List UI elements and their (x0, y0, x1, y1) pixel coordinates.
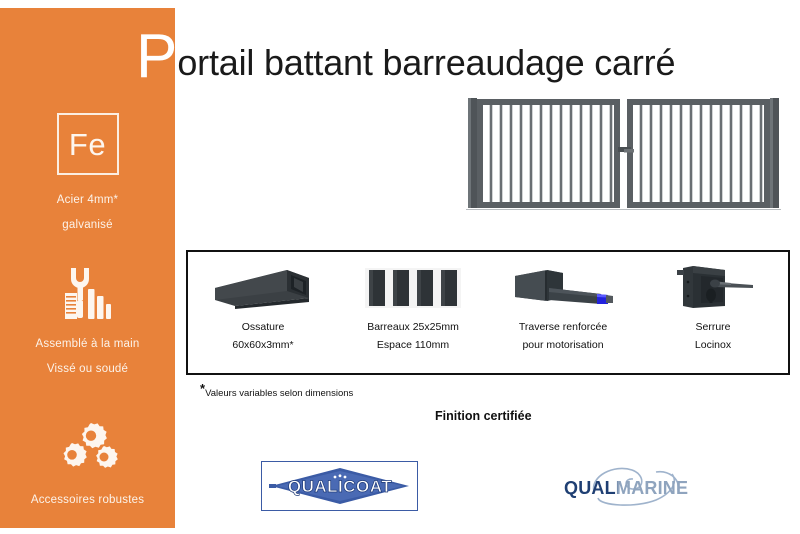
page-title: Portail battant barreaudage carré (136, 24, 675, 86)
sidebar-block-assembly: Assemblé à la main Vissé ou soudé (0, 266, 175, 382)
feature-ossature: Ossature 60x60x3mm* (188, 252, 338, 373)
sidebar-block-accessories: Accessoires robustes (0, 420, 175, 513)
feature-serrure-line1: Serrure (695, 318, 731, 336)
feature-traverse: Traverse renforcée pour motorisation (488, 252, 638, 373)
lock-icon (638, 258, 788, 318)
steel-profile-icon (188, 258, 338, 318)
sidebar-material-line1: Acier 4mm* (0, 188, 175, 213)
double-swing-gate-illustration (466, 90, 781, 222)
vertical-bars-icon (338, 258, 488, 318)
feature-ossature-line1: Ossature (232, 318, 293, 336)
poster-root: Fe Acier 4mm* galvanisé (0, 0, 800, 534)
feature-ossature-line2: 60x60x3mm* (232, 336, 293, 354)
feature-serrure-caption: Serrure Locinox (695, 318, 731, 354)
sidebar-accessories-line1: Accessoires robustes (0, 488, 175, 513)
footnote-text: Valeurs variables selon dimensions (205, 388, 353, 399)
qualimarine-logo: QUALI MARINE (556, 462, 706, 510)
qualicoat-logo: QUALICOAT (261, 461, 418, 511)
fe-symbol-label: Fe (69, 129, 106, 160)
page-title-rest: ortail battant barreaudage carré (177, 43, 675, 83)
fe-element-box-icon: Fe (57, 113, 119, 175)
sidebar-assembly-line1: Assemblé à la main (0, 332, 175, 357)
gears-icon (0, 420, 175, 478)
sidebar-block-material: Fe Acier 4mm* galvanisé (0, 113, 175, 238)
svg-text:QUALI: QUALI (564, 478, 621, 498)
wrench-tools-icon (0, 266, 175, 324)
page-title-initial: P (136, 26, 177, 88)
svg-text:MARINE: MARINE (616, 478, 688, 498)
sidebar-assembly-line2: Vissé ou soudé (0, 357, 175, 382)
sidebar-material-line2: galvanisé (0, 213, 175, 238)
feature-barreaux: Barreaux 25x25mm Espace 110mm (338, 252, 488, 373)
feature-barreaux-caption: Barreaux 25x25mm Espace 110mm (367, 318, 459, 354)
feature-barreaux-line1: Barreaux 25x25mm (367, 318, 459, 336)
svg-text:QUALICOAT: QUALICOAT (287, 477, 391, 496)
footnote: *Valeurs variables selon dimensions (200, 381, 353, 399)
feature-traverse-caption: Traverse renforcée pour motorisation (519, 318, 607, 354)
feature-traverse-line2: pour motorisation (519, 336, 607, 354)
feature-traverse-line1: Traverse renforcée (519, 318, 607, 336)
feature-serrure: Serrure Locinox (638, 252, 788, 373)
feature-serrure-line2: Locinox (695, 336, 731, 354)
feature-ossature-caption: Ossature 60x60x3mm* (232, 318, 293, 354)
features-box: Ossature 60x60x3mm* Bar (186, 250, 790, 375)
reinforced-crossbar-icon (488, 258, 638, 318)
feature-barreaux-line2: Espace 110mm (367, 336, 459, 354)
certification-heading: Finition certifiée (435, 409, 532, 423)
